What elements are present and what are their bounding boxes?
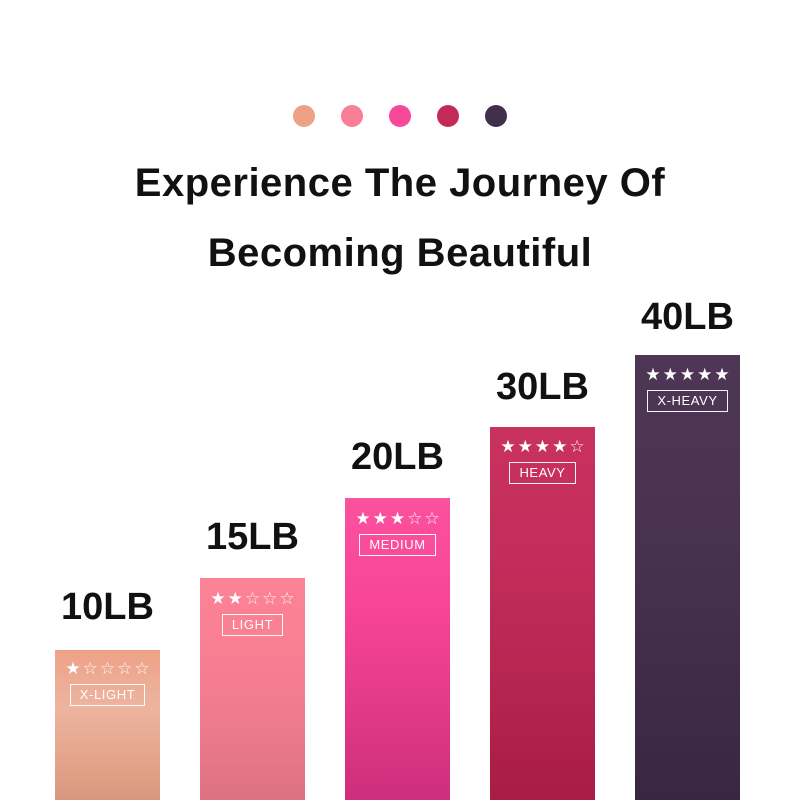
star-filled-icon: ★ [210,590,225,607]
bar-15lb-level-label: LIGHT [222,614,283,636]
star-empty-icon: ☆ [245,590,260,607]
star-filled-icon: ★ [228,590,243,607]
star-filled-icon: ★ [680,366,695,383]
bar-30lb-star-rating: ★★★★☆ [500,438,584,455]
bar-40lb-star-rating: ★★★★★ [645,366,729,383]
bar-20lb-badge: ★★★☆☆MEDIUM [345,510,450,556]
star-empty-icon: ☆ [407,510,422,527]
bar-15lb-badge: ★★☆☆☆LIGHT [200,590,305,636]
star-empty-icon: ☆ [117,660,132,677]
star-filled-icon: ★ [714,366,729,383]
bar-20lb-level-label: MEDIUM [359,534,435,556]
star-filled-icon: ★ [552,438,567,455]
bar-15lb-weight-label: 15LB [206,518,299,556]
bar-20lb-weight-label: 20LB [351,438,444,476]
star-filled-icon: ★ [390,510,405,527]
bar-15lb-star-rating: ★★☆☆☆ [210,590,294,607]
star-empty-icon: ☆ [83,660,98,677]
bar-30lb-badge: ★★★★☆HEAVY [490,438,595,484]
star-filled-icon: ★ [645,366,660,383]
star-filled-icon: ★ [697,366,712,383]
star-filled-icon: ★ [373,510,388,527]
star-filled-icon: ★ [500,438,515,455]
bar-30lb-level-label: HEAVY [509,462,575,484]
bar-40lb-weight-label: 40LB [641,298,734,336]
star-empty-icon: ☆ [262,590,277,607]
bar-40lb-badge: ★★★★★X-HEAVY [635,366,740,412]
bar-10lb-star-rating: ★☆☆☆☆ [65,660,149,677]
bar-40lb-fill [635,355,740,800]
star-empty-icon: ☆ [424,510,439,527]
resistance-bar-chart: 10LB★☆☆☆☆X-LIGHT15LB★★☆☆☆LIGHT20LB★★★☆☆M… [0,0,800,800]
star-filled-icon: ★ [518,438,533,455]
resistance-band-infographic: Experience The Journey Of Becoming Beaut… [0,0,800,800]
star-filled-icon: ★ [535,438,550,455]
star-empty-icon: ☆ [569,438,584,455]
star-empty-icon: ☆ [134,660,149,677]
bar-10lb-level-label: X-LIGHT [70,684,145,706]
bar-20lb-star-rating: ★★★☆☆ [355,510,439,527]
star-filled-icon: ★ [663,366,678,383]
bar-40lb[interactable] [635,355,740,800]
bar-10lb-weight-label: 10LB [61,588,154,626]
star-filled-icon: ★ [355,510,370,527]
star-empty-icon: ☆ [279,590,294,607]
bar-40lb-level-label: X-HEAVY [647,390,727,412]
star-filled-icon: ★ [65,660,80,677]
bar-10lb-badge: ★☆☆☆☆X-LIGHT [55,660,160,706]
star-empty-icon: ☆ [100,660,115,677]
bar-30lb-weight-label: 30LB [496,368,589,406]
